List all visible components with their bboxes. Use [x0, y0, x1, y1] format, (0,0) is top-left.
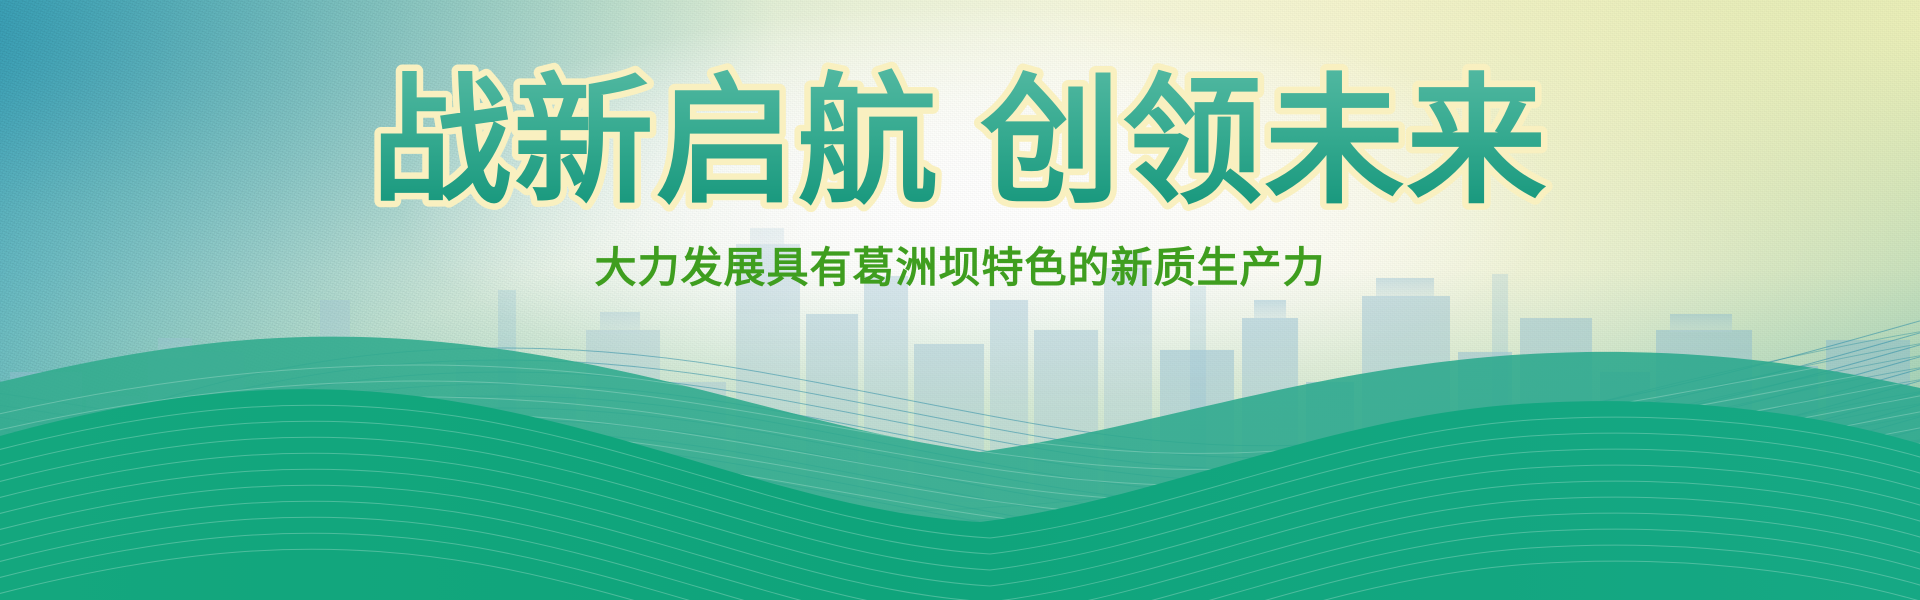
promo-banner: 战新启航 创领未来 战新启航 创领未来 战新启航 创领未来 大力发展具有葛洲坝特…	[0, 0, 1920, 600]
headline-title: 战新启航 创领未来 战新启航 创领未来 战新启航 创领未来	[360, 58, 1560, 233]
headline-fill: 战新启航 创领未来	[372, 63, 1549, 220]
headline-subtitle: 大力发展具有葛洲坝特色的新质生产力	[510, 237, 1410, 299]
subtitle-text: 大力发展具有葛洲坝特色的新质生产力	[594, 245, 1325, 292]
headline-row: 战新启航 创领未来 战新启航 创领未来 战新启航 创领未来	[360, 58, 1560, 233]
